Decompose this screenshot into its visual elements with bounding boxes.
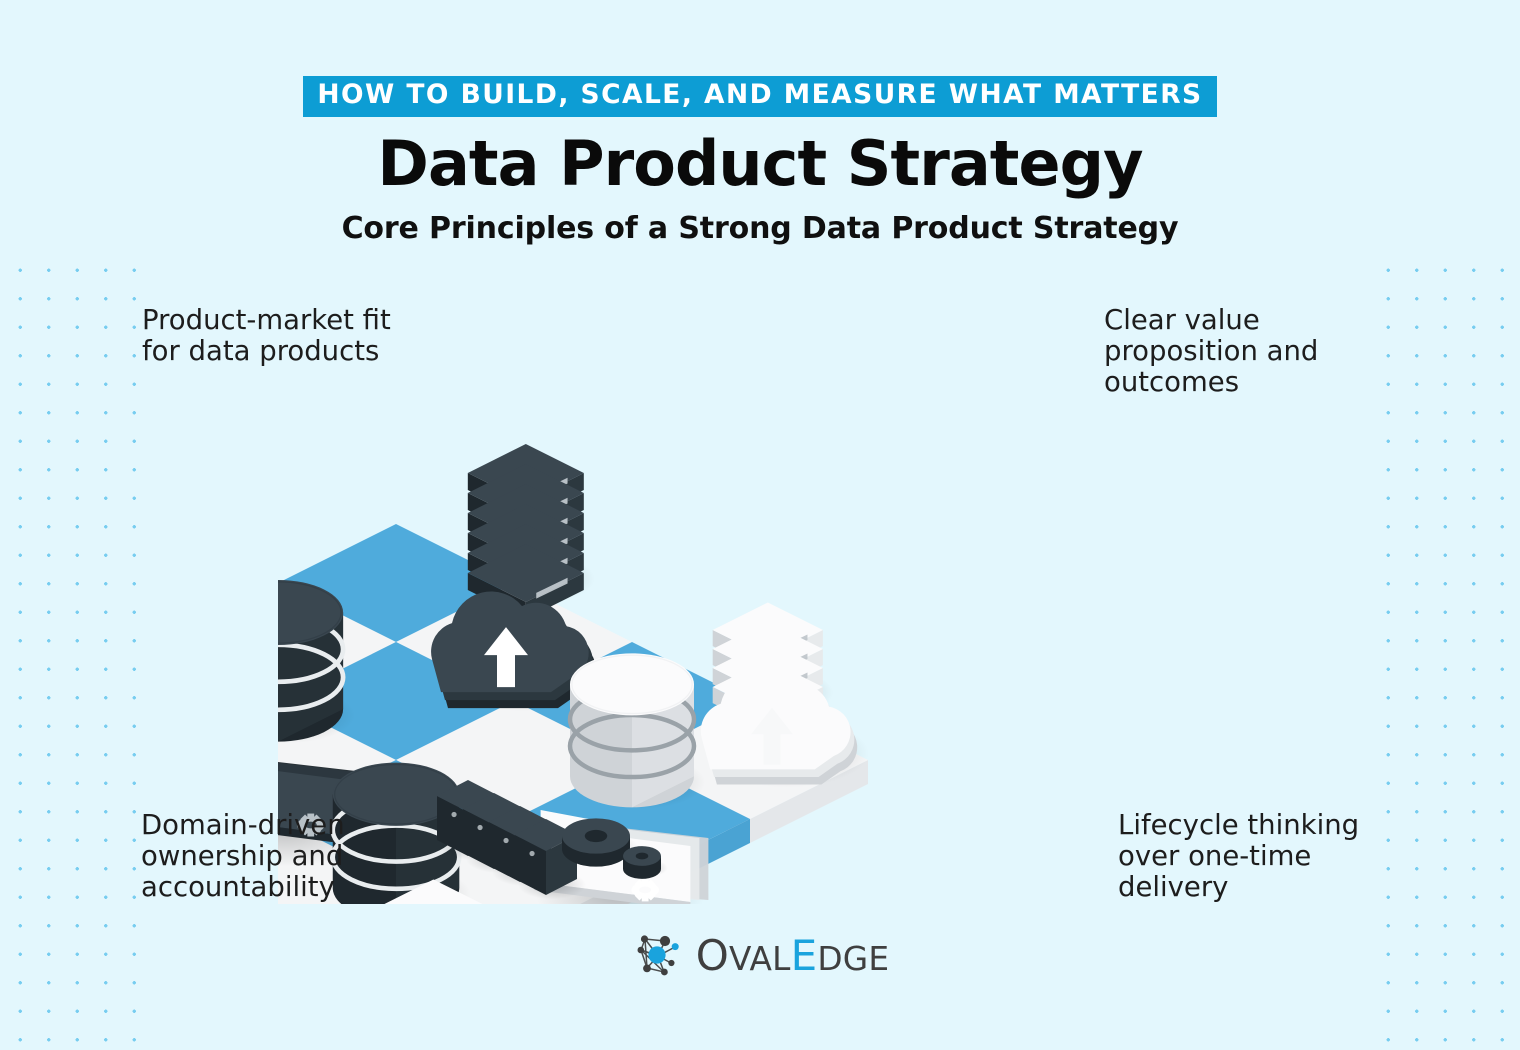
logo-letter-e: E: [791, 931, 818, 980]
database-cylinder-light: [570, 653, 705, 809]
callout-domain-driven-ownership: Domain-driven ownership and accountabili…: [141, 810, 411, 903]
chessboard-svg: [278, 404, 1228, 904]
header: HOW TO BUILD, SCALE, AND MEASURE WHAT MA…: [0, 0, 1520, 245]
kicker-banner: HOW TO BUILD, SCALE, AND MEASURE WHAT MA…: [303, 76, 1216, 117]
callout-product-market-fit: Product-market fit for data products: [142, 305, 407, 367]
callout-lifecycle-thinking: Lifecycle thinking over one-time deliver…: [1118, 810, 1403, 903]
isometric-chessboard-illustration: [278, 404, 1228, 904]
page-subtitle: Core Principles of a Strong Data Product…: [0, 212, 1520, 245]
logo-word-oval: OVAL: [696, 931, 791, 980]
logo-word-dge: DGE: [817, 940, 889, 978]
logo-word-oval-rest: VAL: [729, 940, 791, 978]
logo-wordmark: OVALEDGE: [696, 935, 890, 977]
page-title: Data Product Strategy: [0, 131, 1520, 196]
network-nodes-icon: [631, 930, 683, 982]
callout-clear-value-proposition: Clear value proposition and outcomes: [1104, 305, 1374, 398]
ovaledge-logo: OVALEDGE: [0, 930, 1520, 982]
infographic-page: HOW TO BUILD, SCALE, AND MEASURE WHAT MA…: [0, 0, 1520, 1050]
